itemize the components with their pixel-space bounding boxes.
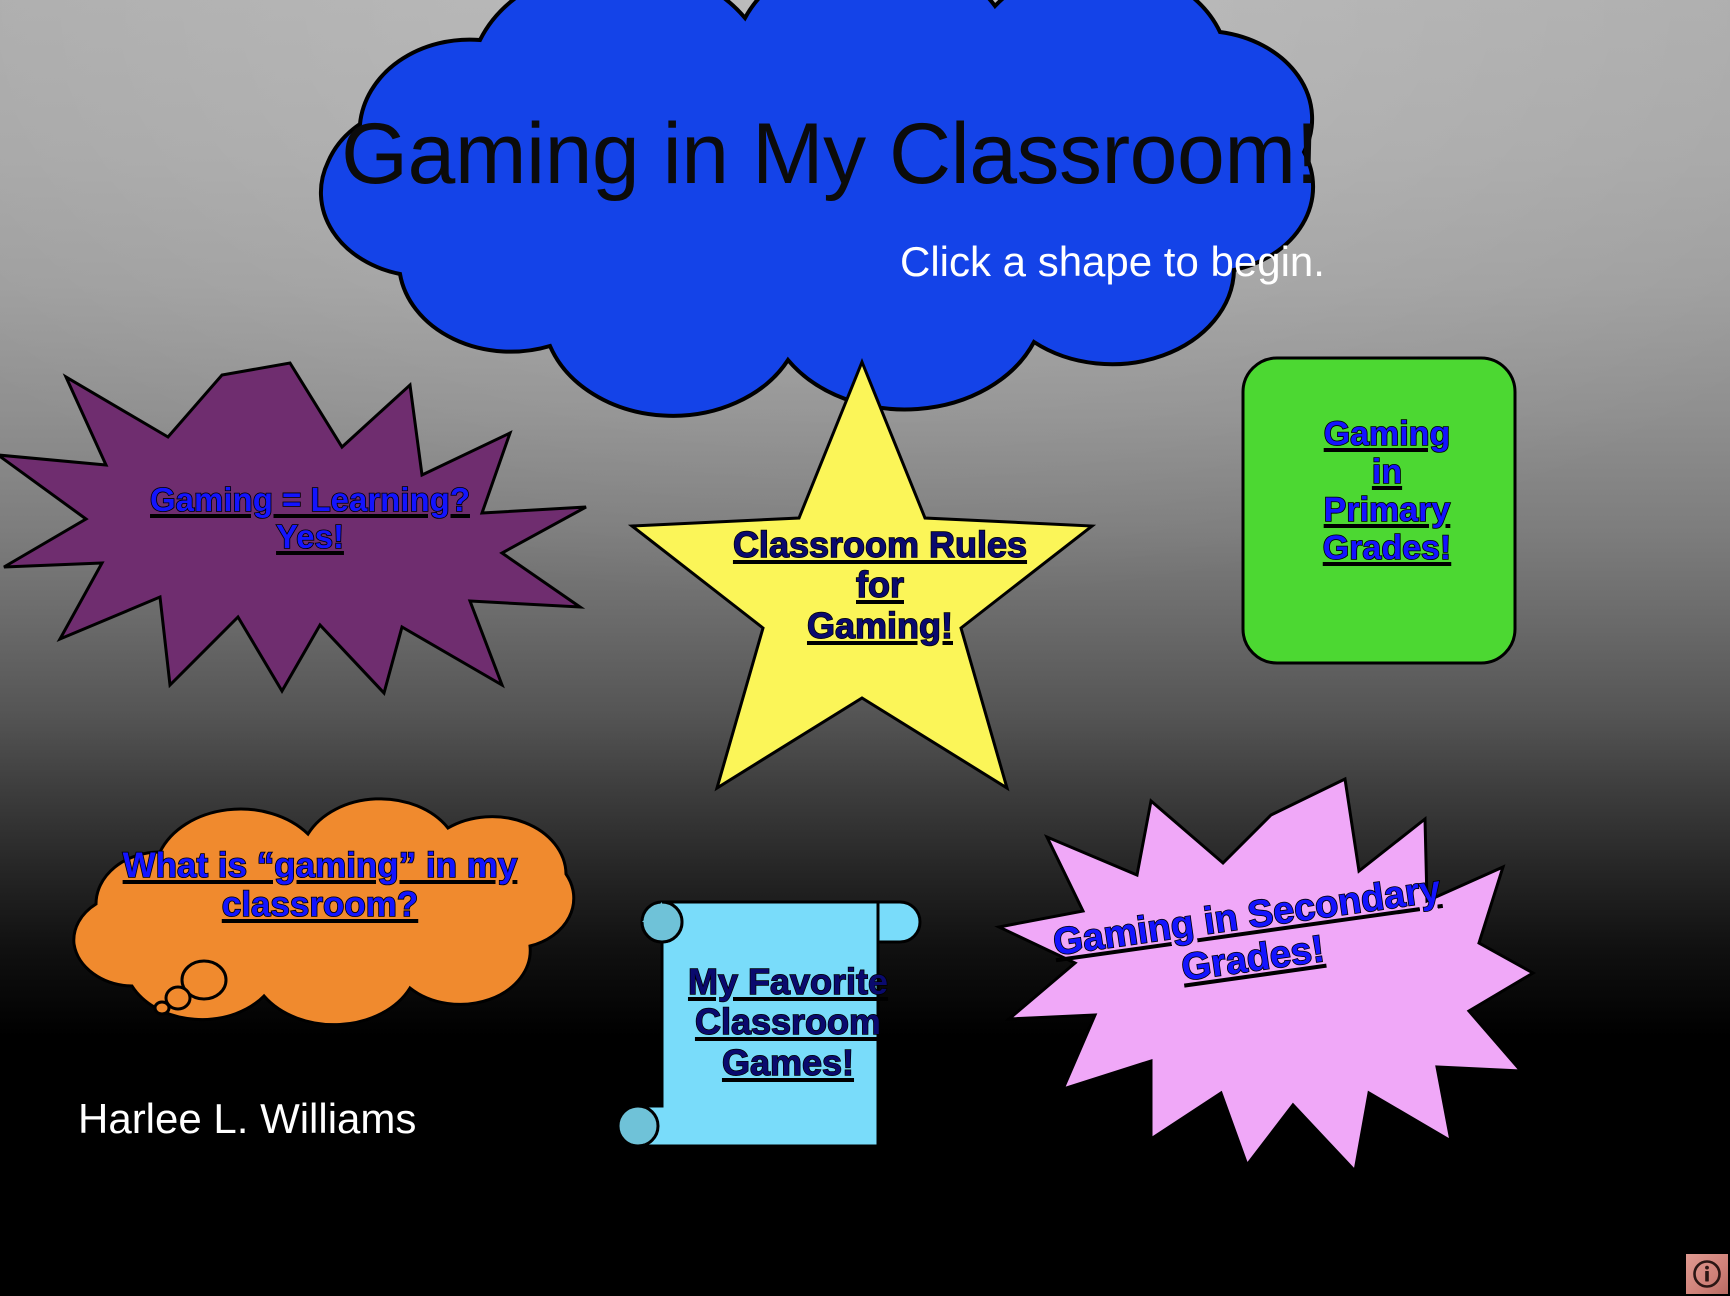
what-is-gaming-shape[interactable]	[16, 812, 596, 1032]
info-icon[interactable]	[1686, 1254, 1728, 1294]
title-cloud-shape[interactable]	[160, 4, 1432, 344]
classroom-rules-shape[interactable]	[612, 356, 1112, 796]
secondary-grades-shape[interactable]	[955, 775, 1535, 1175]
gaming-equals-learning-shape[interactable]	[0, 355, 590, 695]
favorite-games-shape[interactable]	[620, 890, 920, 1160]
primary-grades-shape[interactable]	[1240, 355, 1530, 670]
author-name: Harlee L. Williams	[78, 1095, 578, 1142]
presentation-slide: Gaming in My Classroom! Click a shape to…	[0, 0, 1730, 1296]
info-circle-icon	[1692, 1259, 1722, 1289]
